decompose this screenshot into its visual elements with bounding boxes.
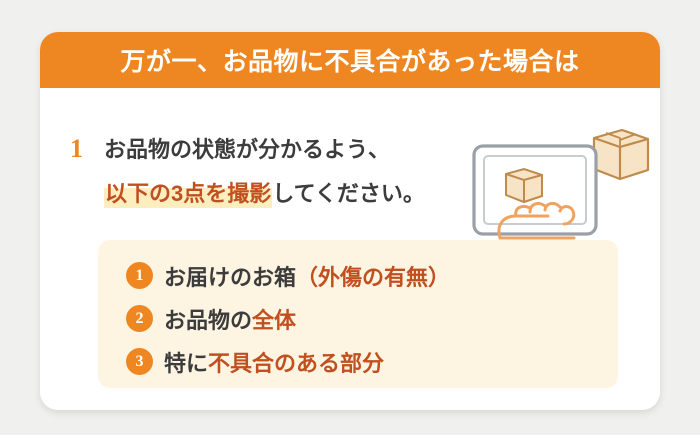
list-item-emphasis: 不具合のある部分 xyxy=(208,351,384,376)
step-text-line-2: 以下の3点を撮影してください。 xyxy=(104,176,425,208)
list-item-label: お届けのお箱（外傷の有無） xyxy=(164,260,450,292)
page-root: 万が一、お品物に不具合があった場合は xyxy=(0,0,700,435)
list-item: 1 お届けのお箱（外傷の有無） xyxy=(126,254,596,297)
list-number-badge: 1 xyxy=(126,262,153,289)
list-item: 2 お品物の全体 xyxy=(126,297,596,340)
tablet-icon xyxy=(474,146,596,234)
list-item-text: 特に xyxy=(164,351,208,376)
list-item-text: お届けのお箱 xyxy=(164,265,296,290)
list-item-text: お品物の xyxy=(164,308,252,333)
photo-checklist: 1 お届けのお箱（外傷の有無） 2 お品物の全体 3 特に不具合のある部分 xyxy=(126,254,596,383)
step-text-remainder: してください。 xyxy=(272,181,425,206)
list-item-label: お品物の全体 xyxy=(164,303,296,335)
step-text-line-1: お品物の状態が分かるよう、 xyxy=(104,132,390,164)
list-item-emphasis: 全体 xyxy=(252,308,296,333)
step-text-highlight: 以下の3点を撮影 xyxy=(104,176,272,208)
photo-checklist-panel: 1 お届けのお箱（外傷の有無） 2 お品物の全体 3 特に不具合のある部分 xyxy=(98,240,618,388)
cardboard-box-icon xyxy=(594,130,648,179)
illustration-svg xyxy=(444,112,654,242)
page-title: 万が一、お品物に不具合があった場合は xyxy=(120,42,579,78)
card-body: 1 お品物の状態が分かるよう、 以下の3点を撮影してください。 1 お届けのお箱… xyxy=(40,88,660,410)
list-item-label: 特に不具合のある部分 xyxy=(164,346,384,378)
list-item-emphasis: （外傷の有無） xyxy=(296,265,450,290)
notice-card: 万が一、お品物に不具合があった場合は xyxy=(40,32,660,410)
list-number-badge: 3 xyxy=(126,348,153,375)
illustration-photographing-box xyxy=(444,112,654,242)
card-header: 万が一、お品物に不具合があった場合は xyxy=(40,32,660,88)
box-on-screen-icon xyxy=(506,169,542,202)
list-item: 3 特に不具合のある部分 xyxy=(126,340,596,383)
list-number-badge: 2 xyxy=(126,305,153,332)
step-number: 1 xyxy=(70,134,83,164)
